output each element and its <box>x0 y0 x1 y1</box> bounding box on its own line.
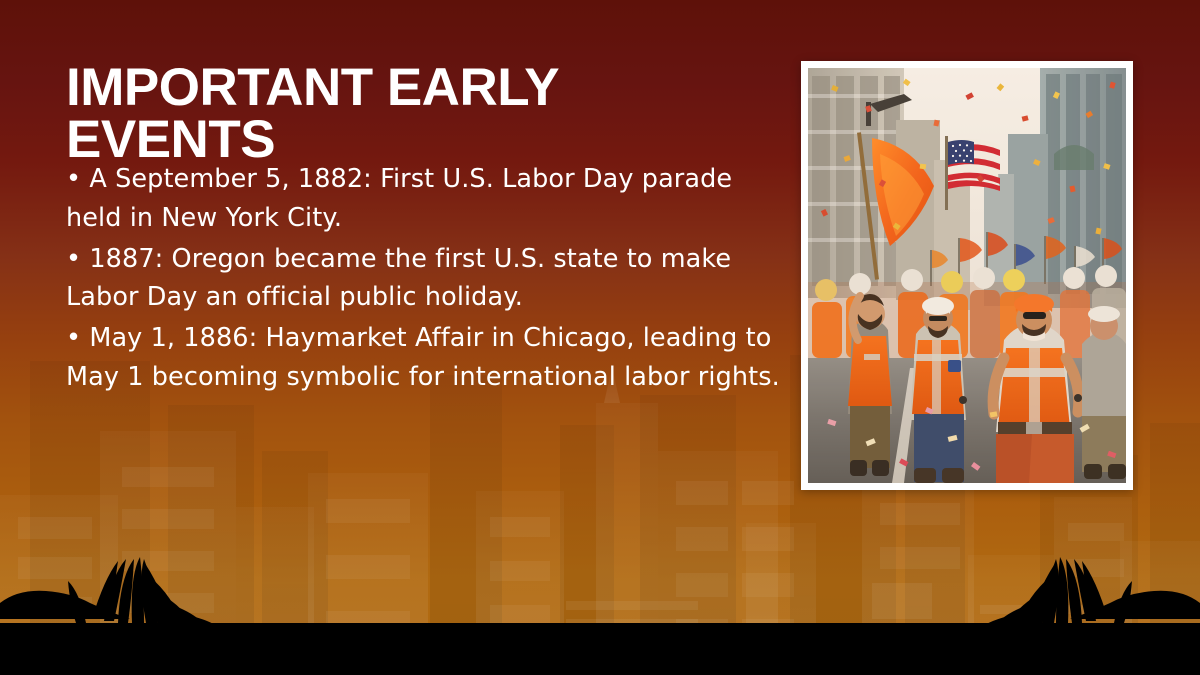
parade-photo <box>808 68 1126 483</box>
bullet-list: • A September 5, 1882: First U.S. Labor … <box>66 160 782 399</box>
slide-canvas: IMPORTANT EARLY EVENTS • A September 5, … <box>0 0 1200 675</box>
foreground-ground-silhouette <box>0 545 1200 675</box>
bullet-item: • A September 5, 1882: First U.S. Labor … <box>66 160 782 238</box>
bullet-item: • 1887: Oregon became the first U.S. sta… <box>66 240 782 318</box>
parade-photo-frame <box>801 61 1133 490</box>
bullet-item: • May 1, 1886: Haymarket Affair in Chica… <box>66 319 782 397</box>
slide-title: IMPORTANT EARLY EVENTS <box>66 62 706 166</box>
